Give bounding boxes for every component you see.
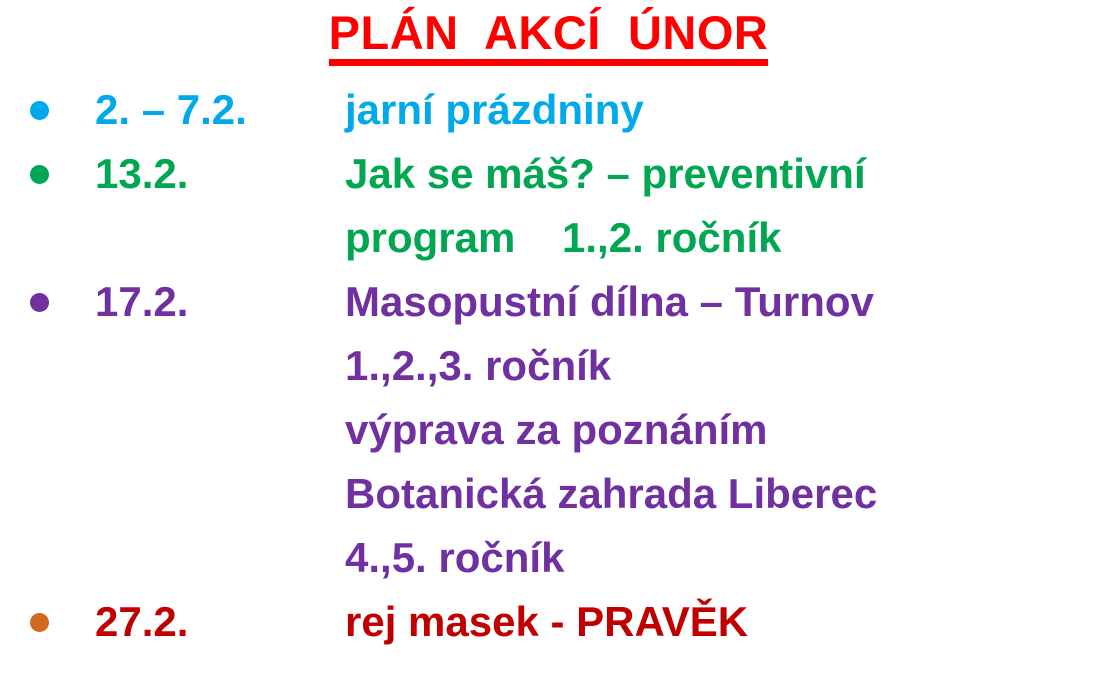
agenda-list: 2. – 7.2.jarní prázdniny13.2.Jak se máš?…	[0, 78, 1097, 654]
agenda-item-subrow: výprava za poznáním	[0, 398, 1097, 462]
agenda-item-text: jarní prázdniny	[345, 78, 1097, 142]
bullet-icon	[30, 101, 49, 120]
agenda-item-date: 13.2.	[95, 142, 345, 206]
indent-spacer	[0, 462, 345, 526]
agenda-item-date: 2. – 7.2.	[95, 78, 345, 142]
bullet-cell	[0, 78, 95, 142]
agenda-item-row: 13.2.Jak se máš? – preventivní	[0, 142, 1097, 206]
agenda-item-subline: výprava za poznáním	[345, 398, 1097, 462]
agenda-item-text: rej masek - PRAVĚK	[345, 590, 1097, 654]
agenda-item: 13.2.Jak se máš? – preventivníprogram 1.…	[0, 142, 1097, 270]
bullet-cell	[0, 270, 95, 334]
agenda-item-subline: Botanická zahrada Liberec	[345, 462, 1097, 526]
indent-spacer	[0, 206, 345, 270]
agenda-item-subrow: 4.,5. ročník	[0, 526, 1097, 590]
agenda-item-row: 27.2.rej masek - PRAVĚK	[0, 590, 1097, 654]
agenda-item-subline: 1.,2.,3. ročník	[345, 334, 1097, 398]
agenda-item-subrow: 1.,2.,3. ročník	[0, 334, 1097, 398]
agenda-item-date: 17.2.	[95, 270, 345, 334]
agenda-item-subline: 4.,5. ročník	[345, 526, 1097, 590]
agenda-item-text: Masopustní dílna – Turnov	[345, 270, 1097, 334]
agenda-item-subrow: Botanická zahrada Liberec	[0, 462, 1097, 526]
agenda-item-row: 2. – 7.2.jarní prázdniny	[0, 78, 1097, 142]
agenda-item: 2. – 7.2.jarní prázdniny	[0, 78, 1097, 142]
slide-canvas: PLÁN AKCÍ ÚNOR 2. – 7.2.jarní prázdniny1…	[0, 0, 1097, 700]
page-title: PLÁN AKCÍ ÚNOR	[329, 8, 769, 66]
page-title-container: PLÁN AKCÍ ÚNOR	[0, 8, 1097, 66]
bullet-icon	[30, 613, 49, 632]
indent-spacer	[0, 526, 345, 590]
bullet-icon	[30, 293, 49, 312]
bullet-cell	[0, 590, 95, 654]
bullet-icon	[30, 165, 49, 184]
agenda-item: 17.2.Masopustní dílna – Turnov1.,2.,3. r…	[0, 270, 1097, 590]
agenda-item-date: 27.2.	[95, 590, 345, 654]
agenda-item-subline: program 1.,2. ročník	[345, 206, 1097, 270]
indent-spacer	[0, 398, 345, 462]
agenda-item-row: 17.2.Masopustní dílna – Turnov	[0, 270, 1097, 334]
agenda-item: 27.2.rej masek - PRAVĚK	[0, 590, 1097, 654]
agenda-item-subrow: program 1.,2. ročník	[0, 206, 1097, 270]
agenda-item-text: Jak se máš? – preventivní	[345, 142, 1097, 206]
indent-spacer	[0, 334, 345, 398]
bullet-cell	[0, 142, 95, 206]
